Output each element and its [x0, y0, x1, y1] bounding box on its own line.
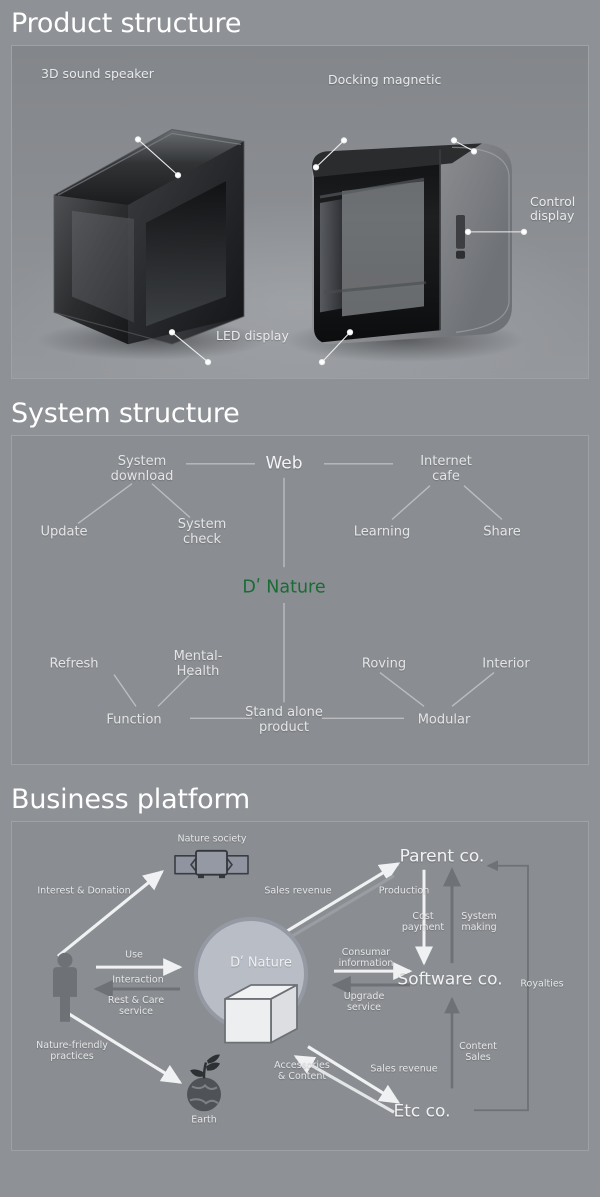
page-root: Product structure	[0, 0, 600, 1197]
system-structure-panel: Web System download Update System check …	[11, 435, 589, 765]
callout-docking-magnetic: Docking magnetic	[328, 73, 441, 87]
flow-label-production: Production	[379, 886, 430, 897]
system-node-web: Web	[265, 455, 302, 474]
product-structure-panel: 3D sound speaker Docking magnetic Contro…	[11, 45, 589, 379]
business-entity-nature-society: Nature society	[177, 834, 246, 845]
business-entity-parent-co: Parent co.	[400, 848, 485, 867]
system-node-update: Update	[40, 525, 87, 540]
section-title-business: Business platform	[0, 765, 600, 815]
system-node-function: Function	[106, 713, 161, 728]
callout-led-display: LED display	[216, 329, 289, 343]
system-node-system-download: System download	[111, 454, 174, 484]
system-node-refresh: Refresh	[49, 657, 98, 672]
flow-label-sales-revenue-etc: Sales revenue	[370, 1064, 437, 1075]
flow-label-use: Use	[125, 950, 143, 961]
business-entity-etc-co: Etc co.	[393, 1103, 450, 1122]
section-title-product: Product structure	[0, 0, 600, 39]
system-node-stand-alone-product: Stand alone product	[245, 705, 323, 735]
flow-label-system-making: System making	[461, 911, 496, 933]
system-node-mental-health: Mental- Health	[174, 649, 223, 679]
system-node-share: Share	[483, 525, 521, 540]
callout-3d-sound-speaker: 3D sound speaker	[41, 67, 154, 81]
flow-label-content-sales: Content Sales	[459, 1041, 497, 1063]
system-node-modular: Modular	[418, 713, 471, 728]
system-node-roving: Roving	[362, 657, 406, 672]
system-node-interior: Interior	[482, 657, 529, 672]
flow-label-cost-payment: Cost payment	[402, 911, 444, 933]
system-node-internet-cafe: Internet cafe	[420, 454, 472, 484]
flow-label-rest-care-service: Rest & Care service	[108, 995, 164, 1017]
business-entity-earth: Earth	[191, 1115, 216, 1126]
business-platform-panel: Dʹ Nature Nature society Parent co. Soft…	[11, 821, 589, 1151]
flow-label-royalties: Royalties	[520, 979, 563, 990]
system-node-center-brand: Dʹ Nature	[242, 581, 325, 596]
system-node-system-check: System check	[178, 517, 226, 547]
flow-label-upgrade-service: Upgrade service	[344, 991, 385, 1013]
system-node-learning: Learning	[354, 525, 410, 540]
flow-label-accessories-content: Accessories & Content	[274, 1060, 330, 1082]
brand-circle	[194, 917, 308, 1031]
flow-label-interaction: Interaction	[112, 975, 164, 986]
flow-label-sales-revenue-parent: Sales revenue	[264, 886, 331, 897]
flow-label-interest-donation: Interest & Donation	[37, 886, 130, 897]
flow-label-consumar-information: Consumar information	[339, 947, 394, 969]
business-entity-software-co: Software co.	[397, 971, 502, 990]
flow-label-nature-friendly-practices: Nature-friendly practices	[36, 1040, 108, 1062]
business-node-center-brand: Dʹ Nature	[230, 958, 292, 969]
product-stage-background	[12, 46, 588, 378]
callout-control-display: Control display	[530, 195, 575, 223]
section-title-system: System structure	[0, 379, 600, 429]
